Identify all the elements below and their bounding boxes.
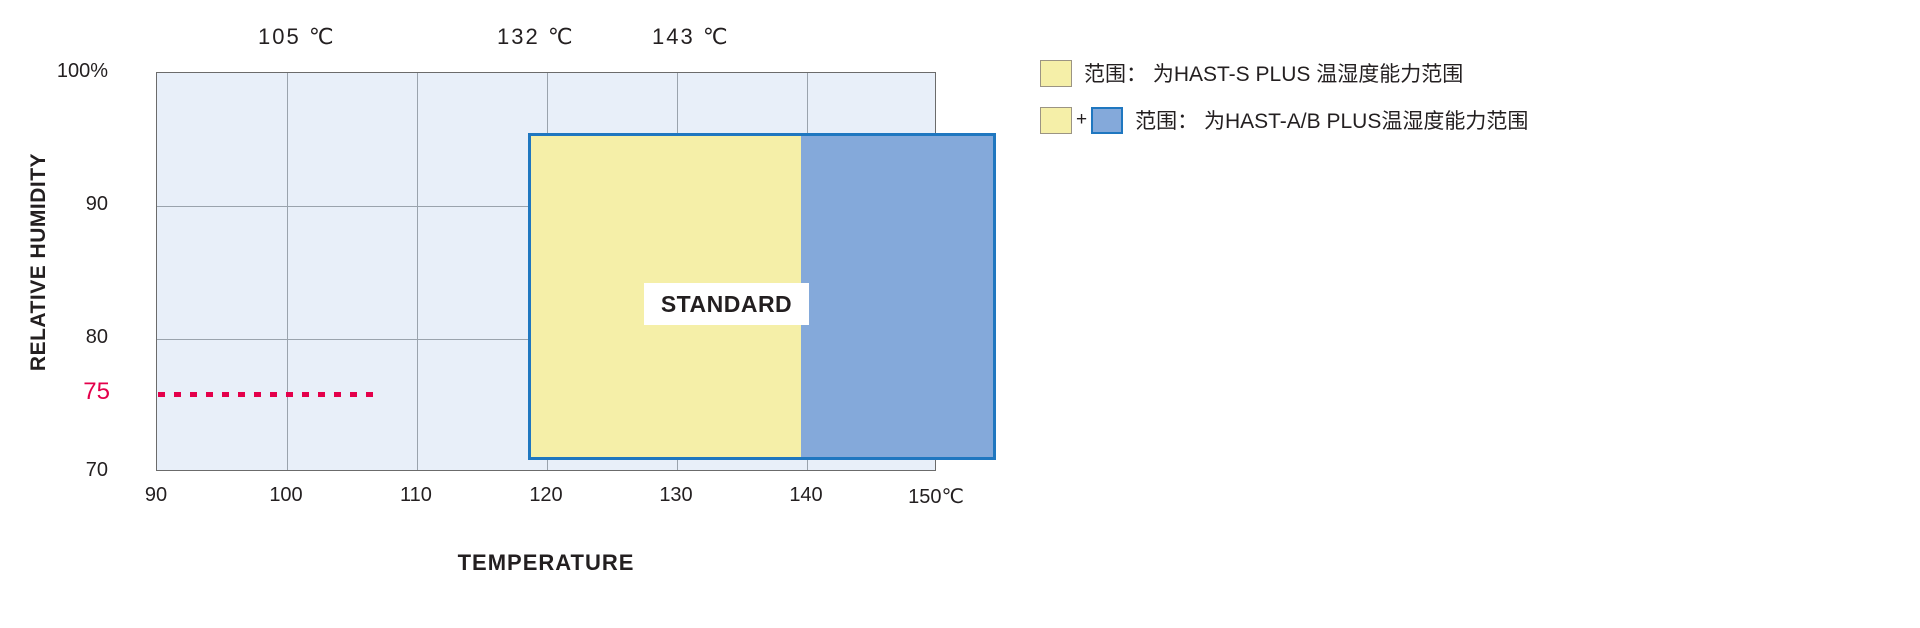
legend: 范围： 为HAST-S PLUS 温湿度能力范围 + 范围： 为HAST-A/B… <box>1040 58 1528 152</box>
legend-label-hast-ab-plus: 范围： 为HAST-A/B PLUS温湿度能力范围 <box>1135 105 1528 135</box>
plot-area: STANDARD <box>156 72 936 471</box>
x-tick-120: 120 <box>506 484 586 507</box>
legend-swatch-yellow-icon <box>1040 107 1072 134</box>
standard-label: STANDARD <box>644 283 809 325</box>
gridline-x-100 <box>287 73 288 470</box>
legend-plus-sign: + <box>1076 109 1087 131</box>
annotation-132c: 132 ℃ <box>497 24 575 50</box>
y-tick-100: 100% <box>57 60 108 83</box>
legend-label-hast-s-plus: 范围： 为HAST-S PLUS 温湿度能力范围 <box>1084 58 1463 88</box>
x-tick-100: 100 <box>246 484 326 507</box>
annotation-143c: 143 ℃ <box>652 24 730 50</box>
x-tick-140: 140 <box>766 484 846 507</box>
x-tick-90: 90 <box>116 484 196 507</box>
y-tick-90: 90 <box>86 193 108 216</box>
y-axis-ticks: 100% 90 80 75 70 <box>0 0 150 628</box>
x-tick-110: 110 <box>376 484 456 507</box>
reference-line-75 <box>158 392 373 397</box>
y-tick-70: 70 <box>86 459 108 482</box>
legend-swatch-blue-icon <box>1091 107 1123 134</box>
x-tick-130: 130 <box>636 484 716 507</box>
legend-item-hast-s-plus: 范围： 为HAST-S PLUS 温湿度能力范围 <box>1040 58 1528 88</box>
y-tick-80: 80 <box>86 326 108 349</box>
gridline-x-110 <box>417 73 418 470</box>
x-axis-title: TEMPERATURE <box>156 550 936 576</box>
legend-item-hast-ab-plus: + 范围： 为HAST-A/B PLUS温湿度能力范围 <box>1040 105 1528 135</box>
x-tick-150: 150℃ <box>888 484 984 509</box>
y-tick-75-highlight: 75 <box>83 378 110 406</box>
legend-swatch-yellow-icon <box>1040 60 1072 87</box>
chart-root: 105 ℃ 132 ℃ 143 ℃ RELATIVE HUMIDITY 100%… <box>0 0 1920 628</box>
annotation-105c: 105 ℃ <box>258 24 336 50</box>
